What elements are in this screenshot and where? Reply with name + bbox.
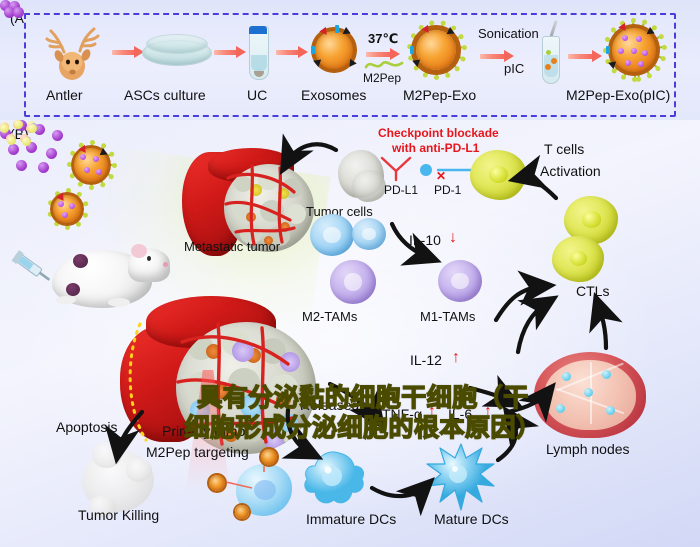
label-checkpoint-blockade: Checkpoint blockade	[378, 127, 499, 139]
tumor-nodule-icon	[66, 283, 80, 296]
primary-tumor-icon	[120, 296, 330, 466]
label-tnf-alpha: TNF-α	[382, 407, 422, 421]
marker-blue-icon	[410, 46, 414, 54]
label-checkpoint-blockade-line2: with anti-PD-L1	[392, 142, 479, 154]
marker-blue-icon	[311, 46, 315, 54]
temperature-label: 37℃	[368, 32, 398, 45]
label-il-12: IL-12	[410, 353, 442, 367]
svg-text:✕: ✕	[436, 169, 446, 183]
il-10-down-arrow: ↓	[449, 230, 457, 246]
process-arrow-6	[568, 52, 602, 61]
mouse-nose-icon	[163, 262, 168, 267]
immature-dc-icon	[302, 448, 368, 510]
sonicator-contents-icon	[545, 50, 557, 72]
panel-b: (B)	[0, 120, 700, 547]
label-released-pic: Released pIC	[300, 398, 385, 412]
process-arrow-5	[480, 52, 514, 61]
sonication-label: Sonication	[478, 27, 539, 40]
panel-a: (A) Antler	[0, 0, 700, 120]
pic-label: pIC	[504, 62, 524, 75]
tnf-alpha-up-arrow: ↑	[428, 404, 436, 420]
process-arrow-2	[214, 48, 246, 57]
label-primary-tumor: Primary tumor	[162, 424, 250, 438]
il-6-up-arrow: ↑	[484, 404, 492, 420]
label-apoptosis: Apoptosis	[56, 420, 117, 434]
process-arrow-1	[112, 48, 144, 57]
mouse-foot-icon	[56, 296, 76, 304]
mouse-eye-icon	[147, 256, 151, 261]
step-label-m2pep-exo-pic: M2Pep-Exo(pIC)	[566, 88, 670, 102]
il-12-up-arrow: ↑	[452, 350, 460, 366]
label-pd-1: PD-1	[434, 184, 461, 196]
petri-dish-lid-icon	[146, 34, 208, 54]
label-metastatic-tumor: Metastatic tumor	[184, 240, 280, 253]
deer-icon	[42, 22, 112, 84]
label-t-cells: T cells	[544, 142, 584, 156]
nanoparticle-icon	[48, 190, 86, 228]
marker-blue-icon	[606, 46, 610, 54]
process-arrow-3	[276, 48, 308, 57]
mature-dc-icon	[424, 442, 498, 512]
label-activation: Activation	[540, 164, 601, 178]
step-label-uc: UC	[247, 88, 267, 102]
il-12-cytokine-dots-icon	[0, 198, 46, 226]
step-label-ascs: ASCs culture	[124, 88, 206, 102]
targeting-connector-icon	[206, 446, 286, 522]
exosome-peptide-icon	[408, 22, 464, 78]
m2pep-targeting-group	[206, 446, 286, 522]
m2pep-label: M2Pep	[363, 72, 401, 84]
label-m1-tams: M1-TAMs	[420, 310, 475, 323]
m2pep-squiggle-icon	[364, 58, 404, 72]
label-il-6: IL-6	[448, 407, 472, 421]
mouse-ear-icon	[131, 244, 147, 258]
label-lymph-nodes: Lymph nodes	[546, 442, 630, 456]
step-label-antler: Antler	[46, 88, 83, 102]
lymph-node-icon	[534, 352, 646, 438]
marker-blue-icon	[335, 25, 339, 33]
exosome-icon	[308, 24, 360, 76]
label-il-10: IL-10	[409, 233, 441, 247]
label-immature-dcs: Immature DCs	[306, 512, 396, 526]
syringe-icon	[10, 248, 56, 292]
exosome-pic-icon	[604, 20, 664, 80]
step-label-m2pep-exo: M2Pep-Exo	[403, 88, 476, 102]
m2-tam-icon	[330, 260, 376, 304]
label-pd-l1: PD-L1	[384, 184, 418, 196]
nanoparticle-icon	[68, 142, 114, 188]
t-cell-icon	[470, 150, 526, 200]
pic-dots-icon	[0, 0, 22, 14]
label-tumor-killing: Tumor Killing	[78, 508, 159, 522]
figure-canvas: (A) Antler	[0, 0, 700, 547]
label-ctls: CTLs	[576, 284, 609, 298]
m1-tam-icon	[310, 214, 354, 256]
step-label-exosomes: Exosomes	[301, 88, 366, 102]
m1-tam-icon	[352, 218, 386, 250]
centrifuge-tube-icon	[249, 26, 269, 80]
ctl-cell-icon	[552, 236, 604, 282]
label-mature-dcs: Mature DCs	[434, 512, 509, 526]
m2-tam-icon	[438, 260, 482, 302]
tumor-nodule-icon	[73, 254, 88, 268]
